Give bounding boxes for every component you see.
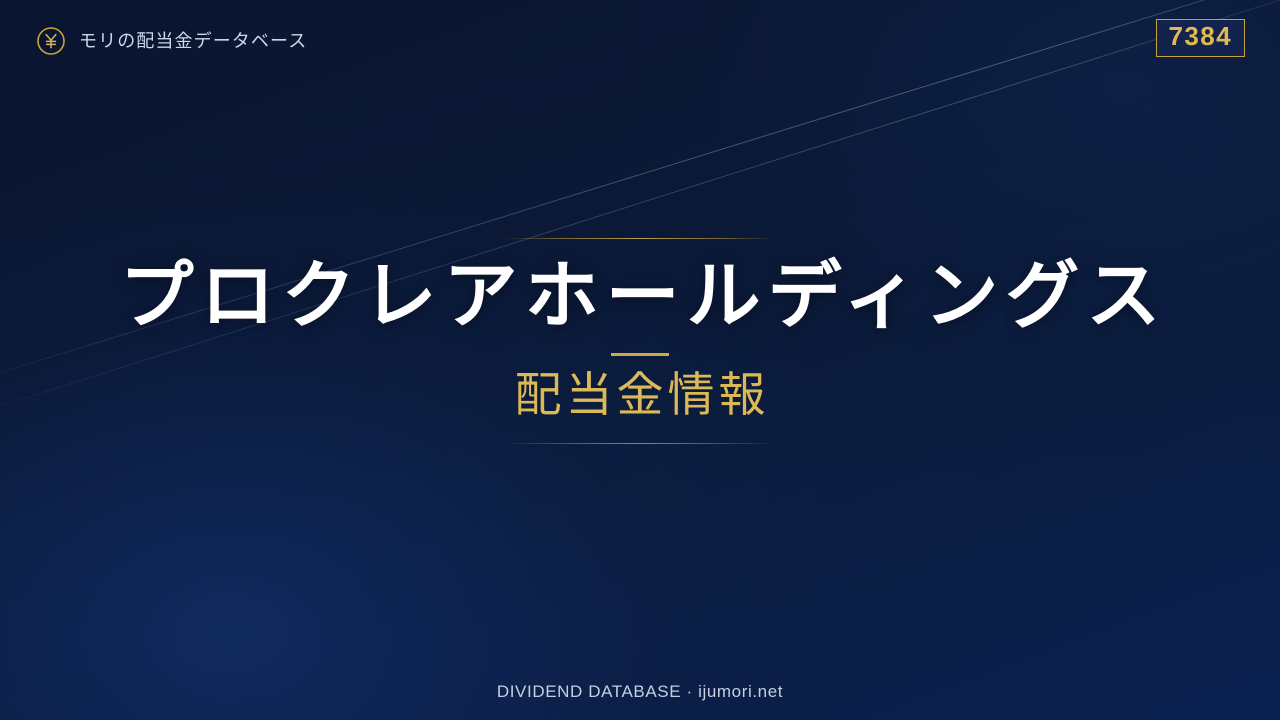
brand[interactable]: モリの配当金データベース [36,26,307,56]
yen-circle-icon [36,26,66,56]
footer-caption: DIVIDEND DATABASE · ijumori.net [0,682,1280,702]
top-bar: モリの配当金データベース 7384 [0,0,1280,74]
ticker-badge: 7384 [1156,19,1245,57]
title-slide: モリの配当金データベース 7384 プロクレアホールディングス 配当金情報 DI… [0,0,1280,720]
subtitle: 配当金情報 [0,369,1280,421]
gold-divider [611,353,669,356]
company-title: プロクレアホールディングス [0,257,1280,335]
divider-above-title [504,238,776,239]
title-block: プロクレアホールディングス 配当金情報 [0,238,1280,444]
brand-name: モリの配当金データベース [79,32,307,50]
divider-below-subtitle [504,443,776,444]
